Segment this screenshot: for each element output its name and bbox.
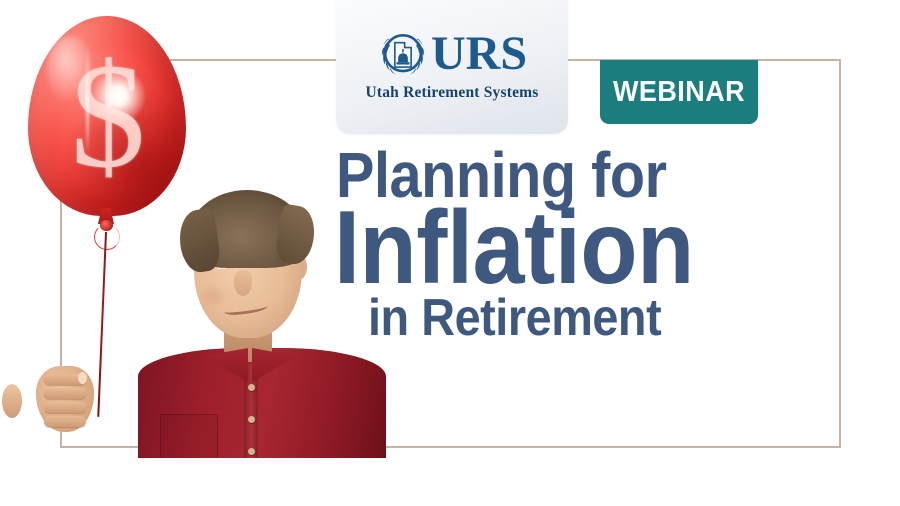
- smiling-man-photo: [138, 188, 386, 450]
- urs-logo-panel: URS Utah Retirement Systems: [336, 0, 568, 134]
- urs-wordmark: URS: [431, 30, 527, 78]
- shirt-pocket: [160, 414, 218, 458]
- webinar-badge-label: WEBINAR: [613, 76, 745, 109]
- person-nose: [234, 270, 252, 296]
- utah-capitol-laurel-seal-icon: [377, 28, 429, 80]
- balloon-highlight: [90, 68, 146, 124]
- headline-block: Planning for Inflation in Retirement: [334, 146, 804, 343]
- finger: [44, 416, 86, 427]
- balloon-string: [97, 232, 107, 417]
- balloon-highlight-streak: [86, 46, 89, 156]
- shirt-button: [248, 384, 255, 391]
- shirt-button: [248, 448, 255, 455]
- balloon-body: $: [28, 16, 186, 216]
- balloon-knot: [100, 220, 113, 231]
- finger: [44, 402, 86, 413]
- webinar-badge: WEBINAR: [600, 60, 758, 124]
- shirt-button: [248, 416, 255, 423]
- promo-banner: $: [0, 0, 900, 506]
- urs-logo-subtitle: Utah Retirement Systems: [336, 84, 568, 102]
- finger: [44, 388, 86, 399]
- person-cheek: [202, 288, 224, 304]
- person-thumb: [2, 384, 22, 418]
- headline-line-2: Inflation: [334, 200, 757, 297]
- headline-line-3: in Retirement: [368, 294, 760, 342]
- thumb-nail: [78, 372, 87, 384]
